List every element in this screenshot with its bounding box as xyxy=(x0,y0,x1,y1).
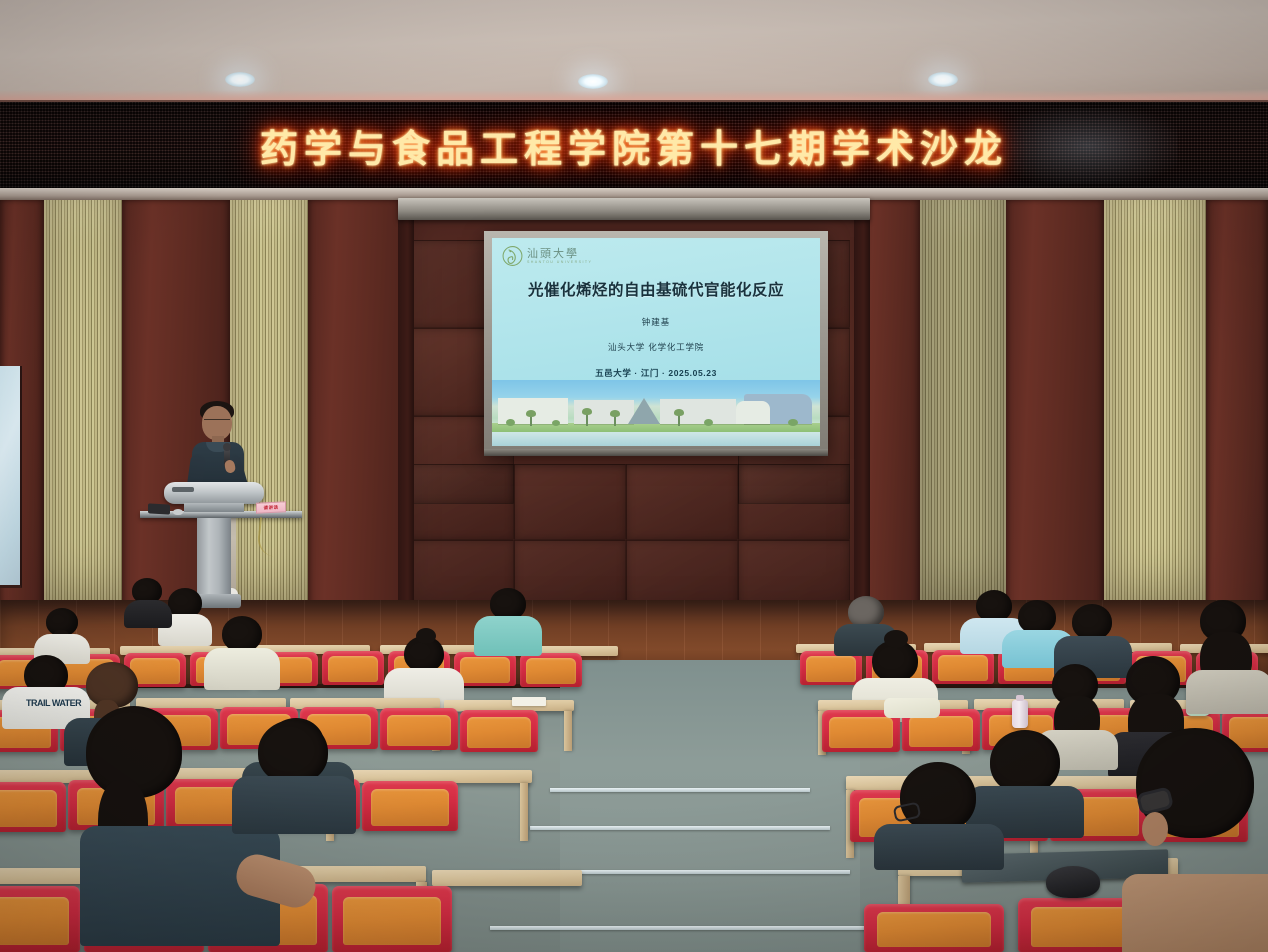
logo-chinese-name: 汕頭大學 xyxy=(527,248,592,259)
desk-leg xyxy=(520,783,528,841)
seat-back-pad xyxy=(460,657,511,682)
step-nosing xyxy=(490,926,880,930)
photo-palm-tree xyxy=(530,415,532,426)
led-banner: 药学与食品工程学院第十七期学术沙龙 xyxy=(0,100,1268,188)
recess-jamb-right xyxy=(854,200,870,620)
auditorium-seat xyxy=(332,886,452,952)
seat-back-pad xyxy=(0,897,69,946)
person-shoulders xyxy=(232,776,356,834)
wall-panel-slat-1 xyxy=(44,200,122,620)
led-glare xyxy=(998,108,1178,184)
person-hair-bun xyxy=(884,630,908,648)
auditorium-seat xyxy=(0,886,80,952)
wall-panel-slat-3 xyxy=(920,200,1006,620)
projection-screen: 汕頭大學 SHANTOU UNIVERSITY 光催化烯烃的自由基硫代官能化反应… xyxy=(484,231,828,453)
folded-cloth xyxy=(884,698,940,718)
photo-tree xyxy=(552,420,560,426)
computer-mouse xyxy=(1046,866,1100,898)
photo-building xyxy=(660,399,736,424)
wall-panel-dark-6 xyxy=(1206,200,1268,620)
person-hair-bun xyxy=(416,628,436,644)
podium-cable xyxy=(256,517,282,557)
podium-mouse xyxy=(173,509,183,515)
wall-panel-dark-5 xyxy=(1006,200,1104,620)
step-nosing xyxy=(530,826,830,830)
person-shoulders xyxy=(874,824,1004,870)
auditorium-seat xyxy=(362,781,458,831)
podium-under-panel xyxy=(184,503,244,512)
auditorium-seat xyxy=(864,904,1004,952)
person-head xyxy=(990,730,1060,794)
projection-screen-housing xyxy=(398,198,870,220)
person-shoulders xyxy=(1186,670,1268,714)
podium-laptop xyxy=(148,503,170,514)
seat-back-pad xyxy=(467,717,531,748)
seat-back-pad xyxy=(829,717,893,748)
ceiling xyxy=(0,0,1268,100)
person-ear xyxy=(1142,812,1168,846)
slide-campus-photo xyxy=(492,380,820,446)
notebook-paper xyxy=(512,697,546,706)
podium-name-card: 请讲话 xyxy=(256,501,286,514)
downlight-left xyxy=(225,72,255,87)
seat-back-pad xyxy=(0,790,57,827)
photo-palm-tree xyxy=(678,414,680,426)
desk-leg xyxy=(564,711,572,751)
slide-presenter: 钟建基 xyxy=(642,316,671,328)
acoustic-tile xyxy=(402,464,514,540)
photo-pyramid-building xyxy=(628,398,660,424)
presenter-glasses xyxy=(204,419,230,425)
photo-building xyxy=(736,401,770,424)
acoustic-tile xyxy=(514,464,626,540)
photo-tree xyxy=(506,419,515,426)
downlight-center xyxy=(578,74,608,89)
seat-back-pad xyxy=(526,658,577,683)
photo-water xyxy=(492,432,820,446)
person-shoulders xyxy=(1122,874,1268,952)
auditorium-seat xyxy=(932,650,994,684)
seat-back-pad xyxy=(328,656,379,681)
photo-tree xyxy=(704,419,713,426)
water-bottle xyxy=(1012,700,1028,728)
auditorium-seat xyxy=(380,708,458,750)
auditorium-seat xyxy=(0,782,66,832)
downlight-right xyxy=(928,72,958,87)
auditorium-seat xyxy=(322,651,384,685)
desk xyxy=(432,870,582,886)
photo-palm-tree xyxy=(614,415,616,426)
seat-back-pad xyxy=(343,897,441,946)
person-head xyxy=(222,616,262,652)
projection-screen-bottom-bar xyxy=(484,449,828,456)
tshirt-print-text: TRAIL WATER xyxy=(26,699,81,708)
seat-back-pad xyxy=(877,912,992,948)
slide-affiliation: 汕头大学 化学化工学院 xyxy=(608,341,704,353)
auditorium-seat xyxy=(800,651,862,685)
slide-title: 光催化烯烃的自由基硫代官能化反应 xyxy=(528,278,784,300)
person-shoulders xyxy=(204,648,280,690)
person-head xyxy=(258,720,328,784)
acoustic-tile xyxy=(738,464,850,540)
auditorium-seat xyxy=(460,710,538,752)
wall-panel-slat-4 xyxy=(1104,200,1206,620)
seat-back-pad xyxy=(938,655,989,680)
person-shoulders xyxy=(124,600,172,628)
seat-back-pad xyxy=(806,656,857,681)
seat-back-pad xyxy=(371,789,450,826)
university-crest-icon xyxy=(502,244,523,268)
photo-lawn xyxy=(492,423,820,432)
tshirt-print: TRAIL WATER xyxy=(26,699,84,717)
person-head xyxy=(1018,600,1056,634)
step-nosing xyxy=(550,788,810,792)
photo-palm-tree xyxy=(586,413,588,426)
podium-name-card-text: 请讲话 xyxy=(257,502,285,513)
center-aisle xyxy=(560,660,860,952)
seat-back-pad xyxy=(387,715,451,746)
seat-back-pad xyxy=(909,716,973,747)
podium-top-panel xyxy=(164,482,264,504)
podium-column xyxy=(197,518,231,596)
acoustic-tile xyxy=(626,464,738,540)
whiteboard xyxy=(0,366,22,588)
person-shoulders xyxy=(474,616,542,656)
photo-tree xyxy=(788,419,798,426)
podium: 请讲话 xyxy=(140,482,302,612)
auditorium-seat xyxy=(520,653,582,687)
presentation-slide: 汕頭大學 SHANTOU UNIVERSITY 光催化烯烃的自由基硫代官能化反应… xyxy=(492,238,820,446)
lecture-hall-scene: 药学与食品工程学院第十七期学术沙龙 xyxy=(0,0,1268,952)
logo-english-name: SHANTOU UNIVERSITY xyxy=(527,261,592,265)
led-banner-text: 药学与食品工程学院第十七期学术沙龙 xyxy=(260,118,1008,173)
university-wordmark: 汕頭大學 SHANTOU UNIVERSITY xyxy=(527,248,592,265)
shantou-university-logo: 汕頭大學 SHANTOU UNIVERSITY xyxy=(502,244,592,268)
recess-jamb-left xyxy=(398,200,414,620)
slide-venue-date: 五邑大学 · 江门 · 2025.05.23 xyxy=(595,367,717,379)
person-head xyxy=(1072,604,1112,640)
person-head xyxy=(900,762,976,832)
